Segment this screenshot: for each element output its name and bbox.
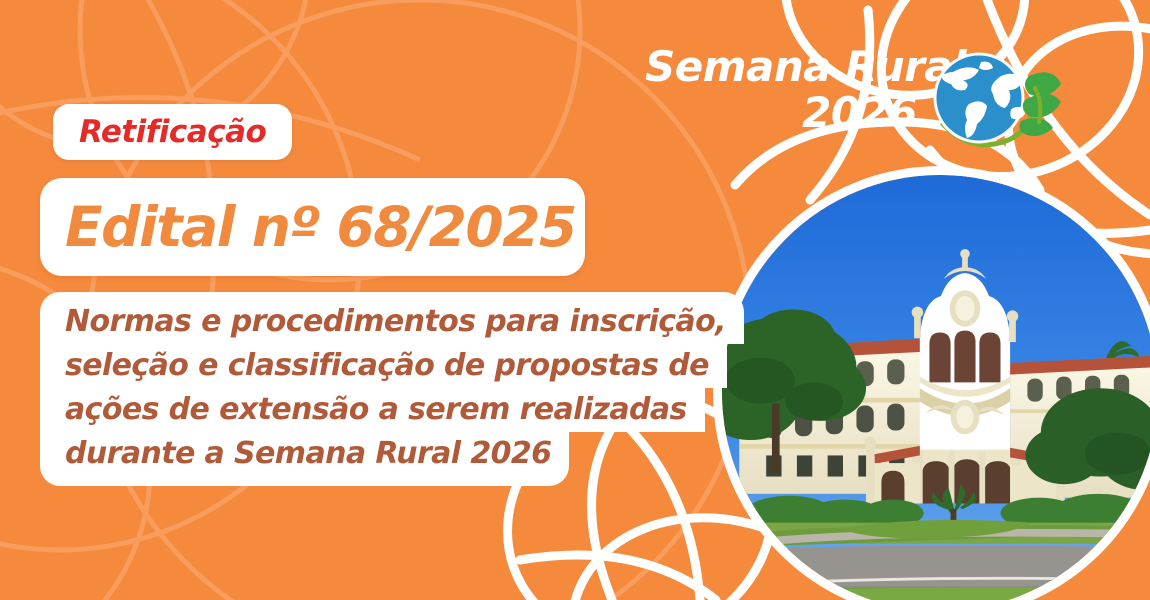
edital-title: Edital nº 68/2025 <box>65 198 576 256</box>
banner-root: Semana Rural 2026 <box>0 0 1150 600</box>
description-line: durante a Semana Rural 2026 <box>40 432 569 486</box>
description-block: Normas e procedimentos para inscrição, s… <box>40 292 720 486</box>
campus-photo-illustration <box>722 175 1150 600</box>
description-line: seleção e classificação de propostas de <box>40 344 727 388</box>
globe-leaf-mark <box>917 46 1065 154</box>
event-logo-line2: 2026 <box>645 90 917 136</box>
campus-photo <box>713 166 1150 600</box>
event-logo: Semana Rural 2026 <box>645 44 1065 156</box>
globe-icon <box>935 54 1025 142</box>
description-line: ações de extensão a serem realizadas <box>40 388 705 432</box>
edital-title-box: Edital nº 68/2025 <box>40 178 585 276</box>
event-logo-line1: Semana Rural <box>645 44 917 90</box>
description-line: Normas e procedimentos para inscrição, <box>40 292 744 344</box>
event-logo-text: Semana Rural 2026 <box>645 44 917 136</box>
retification-badge: Retificação <box>53 104 292 160</box>
retification-label: Retificação <box>79 117 266 148</box>
